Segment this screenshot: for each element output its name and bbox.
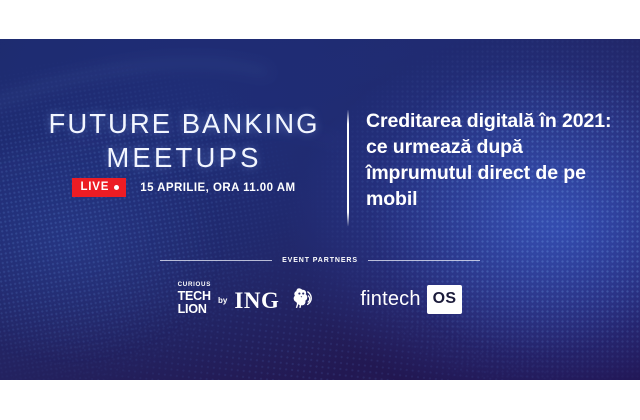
ing-wordmark: ING xyxy=(234,289,279,312)
live-badge-label: LIVE xyxy=(80,182,109,194)
page-root: FUTURE BANKING MEETUPS LIVE 15 APRILIE, … xyxy=(0,0,640,420)
live-info-row: LIVE 15 APRILIE, ORA 11.00 AM xyxy=(40,178,328,197)
vertical-divider xyxy=(347,110,349,226)
brand-title-line-2: MEETUPS xyxy=(40,141,328,175)
partners-section: EVENT PARTNERS CURIOUS TECH LION by ING xyxy=(0,257,640,317)
hero-section: FUTURE BANKING MEETUPS LIVE 15 APRILIE, … xyxy=(0,39,640,380)
ctl-tech-label: TECH xyxy=(178,290,211,304)
partner-logo-fintech-os[interactable]: fintech OS xyxy=(360,285,462,314)
ctl-by-label: by xyxy=(218,296,227,305)
partner-logos: CURIOUS TECH LION by ING xyxy=(0,282,640,317)
event-banner: FUTURE BANKING MEETUPS LIVE 15 APRILIE, … xyxy=(0,39,640,380)
fintech-os-box: OS xyxy=(427,285,463,314)
partners-divider-left xyxy=(160,260,272,261)
ctl-lion-label: LION xyxy=(178,303,211,317)
brand-lockup: FUTURE BANKING MEETUPS xyxy=(40,107,328,174)
talk-title: Creditarea digitală în 2021: ce urmează … xyxy=(366,109,616,213)
curious-tech-lion-wordmark: CURIOUS TECH LION xyxy=(178,282,211,317)
event-datetime: 15 APRILIE, ORA 11.00 AM xyxy=(140,182,295,194)
brand-title-line-1: FUTURE BANKING xyxy=(40,107,328,141)
partners-divider-right xyxy=(368,260,480,261)
fintech-wordmark: fintech xyxy=(360,289,420,309)
live-badge: LIVE xyxy=(72,178,126,197)
partner-logo-curious-tech-lion-ing[interactable]: CURIOUS TECH LION by ING xyxy=(178,282,315,317)
live-dot-icon xyxy=(114,185,119,190)
partners-heading-row: EVENT PARTNERS xyxy=(160,257,480,264)
ing-lion-icon xyxy=(288,287,314,314)
ctl-curious-label: CURIOUS xyxy=(178,282,211,288)
partners-heading-label: EVENT PARTNERS xyxy=(282,257,358,264)
